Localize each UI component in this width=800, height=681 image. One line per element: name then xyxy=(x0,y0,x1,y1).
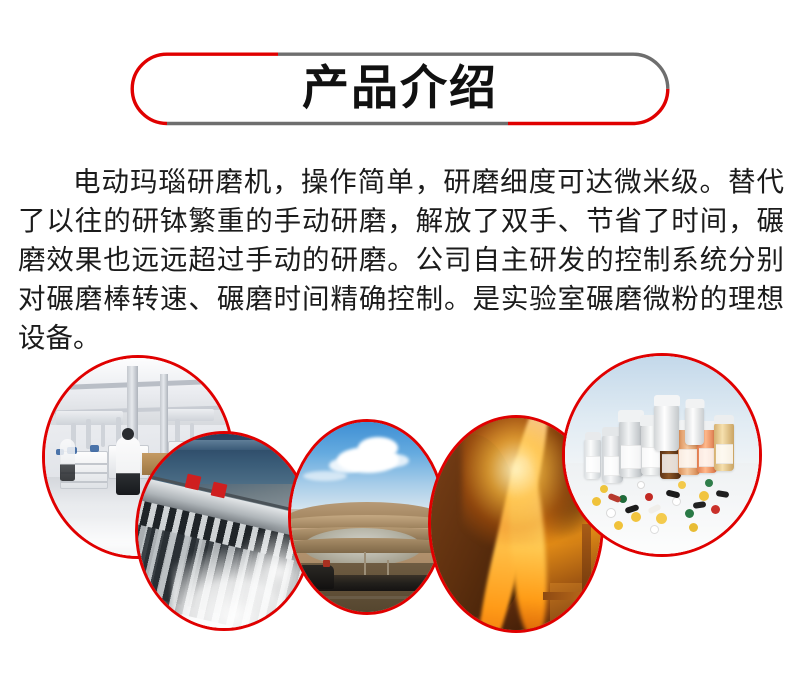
bottle-label xyxy=(716,444,733,464)
pill xyxy=(645,493,653,501)
locomotive xyxy=(300,565,334,589)
lab-instrument xyxy=(90,445,99,452)
pill xyxy=(711,505,720,514)
pill xyxy=(600,485,608,493)
furnace-structure xyxy=(543,592,597,600)
lab-technician xyxy=(116,437,140,495)
pill xyxy=(614,521,623,530)
medicine-bottle xyxy=(654,405,679,451)
bottle-label xyxy=(679,449,697,468)
medicine-bottle xyxy=(584,439,601,479)
bottle-cap xyxy=(714,415,734,424)
product-description-text: 电动玛瑙研磨机，操作简单，研磨细度可达微米级。替代了以往的研钵繁重的手动研磨，解… xyxy=(18,163,784,358)
lab-equipment xyxy=(101,423,105,447)
pill xyxy=(699,491,709,501)
medicine-bottle xyxy=(685,407,704,445)
gallery-image-hydroelectric-dam xyxy=(135,431,313,631)
gallery-image-open-pit-mine xyxy=(288,419,446,615)
medicine-bottle-yellow xyxy=(714,423,734,471)
application-image-gallery xyxy=(0,335,800,645)
medicine-bottle xyxy=(619,421,643,477)
bottle-label xyxy=(621,445,641,469)
product-intro-page: 产品介绍 电动玛瑙研磨机，操作简单，研磨细度可达微米级。替代了以往的研钵繁重的手… xyxy=(0,0,800,681)
bottle-label xyxy=(586,456,600,473)
far-shoreline xyxy=(135,440,313,450)
bottle-label xyxy=(699,448,716,466)
lab-technician xyxy=(60,439,75,481)
mine-terrace xyxy=(288,538,446,553)
pill xyxy=(678,481,686,489)
gallery-image-pharmaceutical-pills xyxy=(562,353,762,557)
pill xyxy=(637,481,645,489)
lab-fume-hood xyxy=(162,409,214,421)
section-title-banner: 产品介绍 xyxy=(130,52,670,126)
bottle-label xyxy=(662,454,680,472)
pharmacy-scene xyxy=(565,356,759,554)
bottle-cap xyxy=(654,395,680,406)
mine-scene xyxy=(291,422,443,612)
bottle-cap xyxy=(685,399,704,408)
dam-gantry-crane xyxy=(211,481,228,498)
pill xyxy=(705,479,713,487)
dam-scene xyxy=(138,434,310,628)
bottle-cap xyxy=(585,432,601,440)
railway-track xyxy=(291,596,443,599)
page-title: 产品介绍 xyxy=(130,51,670,125)
